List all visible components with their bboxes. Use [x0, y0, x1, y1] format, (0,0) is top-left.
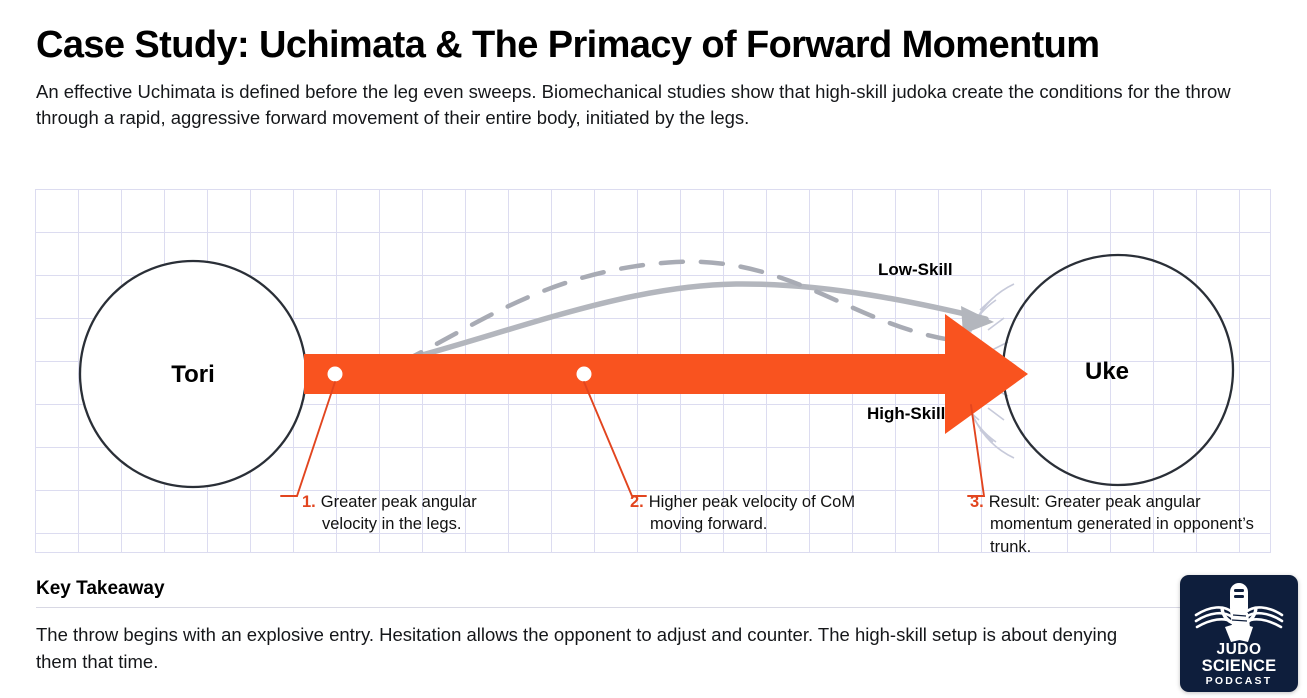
leader-lines — [281, 382, 984, 496]
logo-line-podcast: PODCAST — [1180, 675, 1298, 687]
annotation-item-2: 2.Higher peak velocity of CoM moving for… — [630, 491, 880, 536]
key-takeaway-heading: Key Takeaway — [36, 578, 165, 600]
leader-line-3 — [968, 405, 984, 496]
annotation-number-1: 1. — [302, 493, 321, 511]
high-skill-label: High-Skill — [867, 404, 945, 423]
microphone-belt-knot-icon — [1180, 579, 1298, 645]
key-takeaway-body: The throw begins with an explosive entry… — [36, 622, 1146, 676]
low-skill-label: Low-Skill — [878, 260, 953, 279]
annotation-number-3: 3. — [970, 493, 989, 511]
header: Case Study: Uchimata & The Primacy of Fo… — [36, 24, 1276, 131]
com-marker-legs — [328, 367, 343, 382]
annotation-item-1: 1.Greater peak angular velocity in the l… — [302, 491, 532, 536]
page-title: Case Study: Uchimata & The Primacy of Fo… — [36, 24, 1276, 67]
annotation-text-3: Result: Greater peak angular momentum ge… — [989, 493, 1254, 556]
annotation-text-2: Higher peak velocity of CoM moving forwa… — [649, 493, 855, 533]
motion-streaks-lower — [596, 393, 934, 403]
annotation-item-3: 3.Result: Greater peak angular momentum … — [970, 491, 1270, 558]
com-marker-center — [577, 367, 592, 382]
annotation-number-2: 2. — [630, 493, 649, 511]
key-takeaway-divider — [36, 607, 1271, 608]
page-subtitle: An effective Uchimata is defined before … — [36, 79, 1276, 132]
podcast-logo-badge: JUDO SCIENCE PODCAST — [1180, 575, 1298, 692]
node-uke: Uke — [1003, 255, 1233, 485]
node-tori: Tori — [80, 261, 306, 487]
node-tori-label: Tori — [171, 361, 215, 388]
logo-line-science: SCIENCE — [1180, 657, 1298, 676]
leader-line-2 — [584, 382, 646, 496]
node-uke-label: Uke — [1085, 358, 1129, 385]
annotation-text-1: Greater peak angular velocity in the leg… — [321, 493, 477, 533]
